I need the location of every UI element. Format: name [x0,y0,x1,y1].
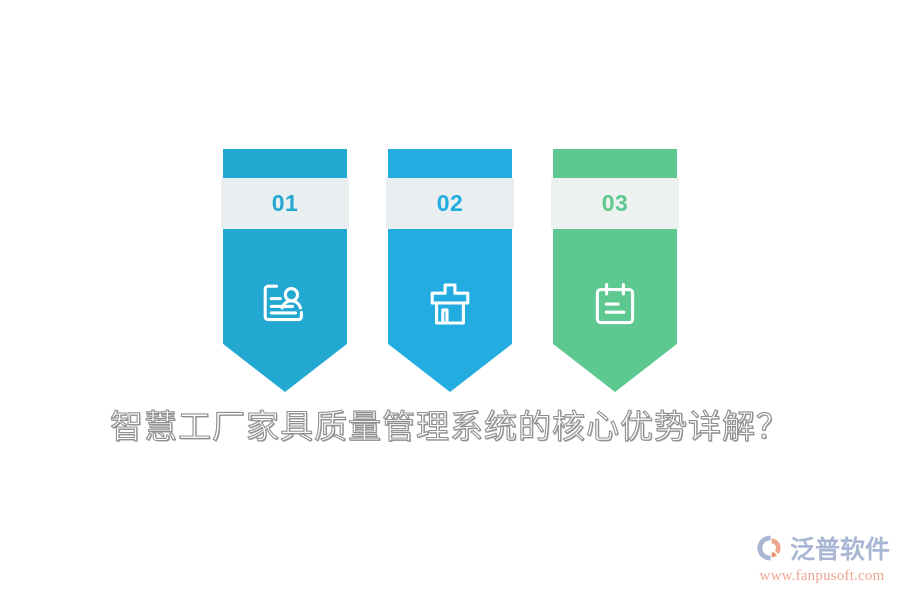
banner-02-number-band: 02 [386,178,514,229]
banner-03-number-band: 03 [551,178,679,229]
page-title: 智慧工厂家具质量管理系统的核心优势详解？ [0,406,900,450]
banner-row: 01 02 [0,149,900,394]
watermark-logo: 泛普软件 www.fanpusoft.com [752,532,892,594]
watermark-top-row: 泛普软件 [752,532,892,568]
banner-03[interactable]: 03 [553,149,677,392]
banner-01[interactable]: 01 [223,149,347,392]
id-card-user-icon [223,274,347,334]
fanpu-swirl-logo-icon [756,534,786,567]
banner-01-number: 01 [272,192,299,215]
banner-02[interactable]: 02 [388,149,512,392]
factory-building-icon [388,274,512,334]
banner-03-number: 03 [602,192,629,215]
watermark-brand-text: 泛普软件 [790,538,890,563]
slide-canvas: 01 02 [0,0,900,600]
notepad-checklist-icon [553,274,677,334]
banner-02-number: 02 [437,192,464,215]
watermark-url-text: www.fanpusoft.com [752,569,892,584]
banner-01-number-band: 01 [221,178,349,229]
